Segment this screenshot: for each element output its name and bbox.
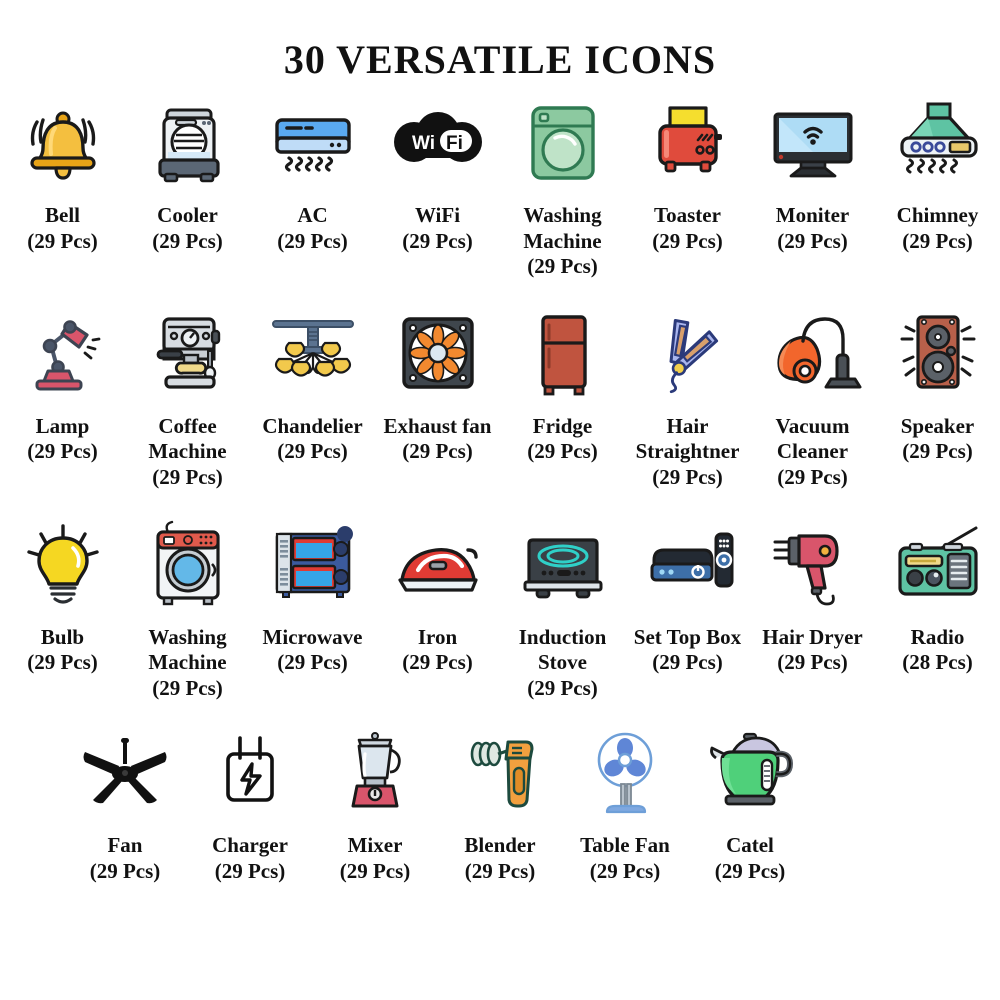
icon-label: Bulb (29 Pcs) xyxy=(1,625,125,676)
icon-count: (29 Pcs) xyxy=(1,650,125,676)
icon-label: Washing Machine (29 Pcs) xyxy=(126,625,250,702)
icon-count: (29 Pcs) xyxy=(126,465,250,491)
page-title: 30 VERSATILE ICONS xyxy=(0,0,1000,83)
icon-name: Mixer xyxy=(348,833,403,857)
icon-row-2: Lamp (29 Pcs) xyxy=(0,298,1000,491)
icon-cell-lamp[interactable]: Lamp (29 Pcs) xyxy=(0,298,125,491)
icon-name: Hair Dryer xyxy=(762,625,863,649)
icon-count: (29 Pcs) xyxy=(501,439,625,465)
hair-dryer-icon xyxy=(758,509,868,619)
ceiling-fan-icon xyxy=(70,717,180,827)
wifi-icon: Wi Fi xyxy=(383,87,493,197)
icon-count: (29 Pcs) xyxy=(126,676,250,702)
icon-label: AC (29 Pcs) xyxy=(251,203,375,254)
icon-count: (29 Pcs) xyxy=(251,229,375,255)
icon-cell-exhaust-fan[interactable]: Exhaust fan (29 Pcs) xyxy=(375,298,500,491)
icon-count: (29 Pcs) xyxy=(251,650,375,676)
exhaust-fan-icon xyxy=(383,298,493,408)
icon-label: Toaster (29 Pcs) xyxy=(626,203,750,254)
speaker-icon xyxy=(883,298,993,408)
icon-cell-hair-dryer[interactable]: Hair Dryer (29 Pcs) xyxy=(750,509,875,702)
icon-name: Bulb xyxy=(41,625,84,649)
iron-icon xyxy=(383,509,493,619)
icon-label: Fridge (29 Pcs) xyxy=(501,414,625,465)
icon-label: Chandelier (29 Pcs) xyxy=(251,414,375,465)
induction-stove-icon xyxy=(508,509,618,619)
icon-count: (29 Pcs) xyxy=(626,465,750,491)
icon-count: (29 Pcs) xyxy=(126,229,250,255)
bell-icon xyxy=(8,87,118,197)
icon-label: Table Fan (29 Pcs) xyxy=(563,833,687,884)
icon-count: (29 Pcs) xyxy=(438,859,562,885)
icon-name: Lamp xyxy=(36,414,90,438)
cooler-icon xyxy=(133,87,243,197)
icon-name: Catel xyxy=(726,833,774,857)
icon-cell-blender[interactable]: Blender (29 Pcs) xyxy=(438,717,563,884)
icon-name: Chandelier xyxy=(262,414,362,438)
charger-icon xyxy=(195,717,305,827)
icon-count: (29 Pcs) xyxy=(876,229,1000,255)
icon-label: Moniter (29 Pcs) xyxy=(751,203,875,254)
icon-label: Hair Dryer (29 Pcs) xyxy=(751,625,875,676)
icon-label: Exhaust fan (29 Pcs) xyxy=(376,414,500,465)
icon-name: Cooler xyxy=(157,203,218,227)
icon-cell-wifi[interactable]: Wi Fi WiFi (29 Pcs) xyxy=(375,87,500,280)
icon-count: (29 Pcs) xyxy=(251,439,375,465)
icon-cell-ac[interactable]: AC (29 Pcs) xyxy=(250,87,375,280)
icon-count: (28 Pcs) xyxy=(876,650,1000,676)
icon-count: (29 Pcs) xyxy=(1,439,125,465)
icon-name: Radio xyxy=(911,625,965,649)
icon-label: Radio (28 Pcs) xyxy=(876,625,1000,676)
icon-cell-radio[interactable]: Radio (28 Pcs) xyxy=(875,509,1000,702)
icon-count: (29 Pcs) xyxy=(563,859,687,885)
icon-name: Exhaust fan xyxy=(384,414,492,438)
icon-cell-chandelier[interactable]: Chandelier (29 Pcs) xyxy=(250,298,375,491)
monitor-icon xyxy=(758,87,868,197)
icon-count: (29 Pcs) xyxy=(1,229,125,255)
icon-name: Set Top Box xyxy=(634,625,741,649)
icon-cell-ceiling-fan[interactable]: Fan (29 Pcs) xyxy=(63,717,188,884)
icon-count: (29 Pcs) xyxy=(188,859,312,885)
icon-label: Chimney (29 Pcs) xyxy=(876,203,1000,254)
icon-name: Fridge xyxy=(533,414,592,438)
icon-count: (29 Pcs) xyxy=(313,859,437,885)
icon-cell-speaker[interactable]: Speaker (29 Pcs) xyxy=(875,298,1000,491)
icon-label: Coffee Machine (29 Pcs) xyxy=(126,414,250,491)
icon-cell-bell[interactable]: Bell (29 Pcs) xyxy=(0,87,125,280)
icon-label: Induction Stove (29 Pcs) xyxy=(501,625,625,702)
coffee-machine-icon xyxy=(133,298,243,408)
icon-row-1: Bell (29 Pcs) Coo xyxy=(0,87,1000,280)
icon-name: Chimney xyxy=(897,203,979,227)
icon-cell-kettle[interactable]: Catel (29 Pcs) xyxy=(688,717,813,884)
icon-count: (29 Pcs) xyxy=(751,465,875,491)
icon-cell-monitor[interactable]: Moniter (29 Pcs) xyxy=(750,87,875,280)
icon-count: (29 Pcs) xyxy=(626,650,750,676)
icon-count: (29 Pcs) xyxy=(376,650,500,676)
icon-label: Set Top Box (29 Pcs) xyxy=(626,625,750,676)
icon-cell-coffee-machine[interactable]: Coffee Machine (29 Pcs) xyxy=(125,298,250,491)
icon-count: (29 Pcs) xyxy=(501,254,625,280)
icon-cell-washing-machine[interactable]: Washing Machine (29 Pcs) xyxy=(500,87,625,280)
icon-count: (29 Pcs) xyxy=(376,229,500,255)
svg-text:Fi: Fi xyxy=(446,133,463,154)
washing-machine-front-icon xyxy=(133,509,243,619)
icon-count: (29 Pcs) xyxy=(876,439,1000,465)
icon-count: (29 Pcs) xyxy=(376,439,500,465)
icon-cell-table-fan[interactable]: Table Fan (29 Pcs) xyxy=(563,717,688,884)
set-top-box-icon xyxy=(633,509,743,619)
icon-label: WiFi (29 Pcs) xyxy=(376,203,500,254)
washing-machine-icon xyxy=(508,87,618,197)
ac-icon xyxy=(258,87,368,197)
icon-name: Speaker xyxy=(901,414,975,438)
icon-pack-sheet: 30 VERSATILE ICONS Bell (29 Pcs) xyxy=(0,0,1000,1000)
icon-name: Iron xyxy=(418,625,457,649)
mixer-icon xyxy=(320,717,430,827)
icon-cell-toaster[interactable]: Toaster (29 Pcs) xyxy=(625,87,750,280)
icon-name: Toaster xyxy=(654,203,721,227)
icon-cell-fridge[interactable]: Fridge (29 Pcs) xyxy=(500,298,625,491)
desk-lamp-icon xyxy=(8,298,118,408)
icon-name: WiFi xyxy=(415,203,460,227)
icon-cell-set-top-box[interactable]: Set Top Box (29 Pcs) xyxy=(625,509,750,702)
icon-label: Mixer (29 Pcs) xyxy=(313,833,437,884)
table-fan-icon xyxy=(570,717,680,827)
icon-label: Hair Straightner (29 Pcs) xyxy=(626,414,750,491)
icon-name: AC xyxy=(297,203,327,227)
icon-label: Microwave (29 Pcs) xyxy=(251,625,375,676)
icon-name: Fan xyxy=(107,833,142,857)
icon-count: (29 Pcs) xyxy=(751,229,875,255)
icon-count: (29 Pcs) xyxy=(688,859,812,885)
vacuum-cleaner-icon xyxy=(758,298,868,408)
icon-cell-chimney[interactable]: Chimney (29 Pcs) xyxy=(875,87,1000,280)
icon-name: Coffee Machine xyxy=(148,414,226,464)
icon-name: Induction Stove xyxy=(519,625,607,675)
icon-cell-washing-machine-front[interactable]: Washing Machine (29 Pcs) xyxy=(125,509,250,702)
icon-label: Cooler (29 Pcs) xyxy=(126,203,250,254)
icon-name: Washing Machine xyxy=(148,625,226,675)
icon-label: Speaker (29 Pcs) xyxy=(876,414,1000,465)
icon-count: (29 Pcs) xyxy=(63,859,187,885)
icon-label: Lamp (29 Pcs) xyxy=(1,414,125,465)
icon-cell-iron[interactable]: Iron (29 Pcs) xyxy=(375,509,500,702)
icon-cell-cooler[interactable]: Cooler (29 Pcs) xyxy=(125,87,250,280)
icon-label: Fan (29 Pcs) xyxy=(63,833,187,884)
fridge-icon xyxy=(508,298,618,408)
icon-cell-induction-stove[interactable]: Induction Stove (29 Pcs) xyxy=(500,509,625,702)
icon-name: Hair Straightner xyxy=(636,414,740,464)
icon-name: Charger xyxy=(212,833,288,857)
icon-cell-hair-straightener[interactable]: Hair Straightner (29 Pcs) xyxy=(625,298,750,491)
icon-count: (29 Pcs) xyxy=(501,676,625,702)
icon-count: (29 Pcs) xyxy=(751,650,875,676)
icon-cell-charger[interactable]: Charger (29 Pcs) xyxy=(188,717,313,884)
icon-name: Table Fan xyxy=(580,833,670,857)
icon-name: Blender xyxy=(464,833,535,857)
icon-label: Iron (29 Pcs) xyxy=(376,625,500,676)
icon-cell-vacuum-cleaner[interactable]: Vacuum Cleaner (29 Pcs) xyxy=(750,298,875,491)
icon-name: Washing Machine xyxy=(523,203,601,253)
icon-label: Catel (29 Pcs) xyxy=(688,833,812,884)
icon-count: (29 Pcs) xyxy=(626,229,750,255)
icon-label: Blender (29 Pcs) xyxy=(438,833,562,884)
icon-row-4: Fan (29 Pcs) Charger (29 Pcs) xyxy=(125,717,1000,884)
blender-icon xyxy=(445,717,555,827)
bulb-icon xyxy=(8,509,118,619)
toaster-icon xyxy=(633,87,743,197)
icon-name: Bell xyxy=(45,203,80,227)
icon-label: Bell (29 Pcs) xyxy=(1,203,125,254)
svg-text:Wi: Wi xyxy=(412,133,435,154)
icon-name: Vacuum Cleaner xyxy=(776,414,850,464)
icon-name: Microwave xyxy=(263,625,363,649)
icon-row-3: Bulb (29 Pcs) xyxy=(0,509,1000,702)
microwave-icon xyxy=(258,509,368,619)
radio-icon xyxy=(883,509,993,619)
icon-label: Washing Machine (29 Pcs) xyxy=(501,203,625,280)
icon-name: Moniter xyxy=(776,203,849,227)
icon-label: Vacuum Cleaner (29 Pcs) xyxy=(751,414,875,491)
icon-cell-microwave[interactable]: Microwave (29 Pcs) xyxy=(250,509,375,702)
icon-label: Charger (29 Pcs) xyxy=(188,833,312,884)
icon-cell-mixer[interactable]: Mixer (29 Pcs) xyxy=(313,717,438,884)
hair-straightener-icon xyxy=(633,298,743,408)
kettle-icon xyxy=(695,717,805,827)
chandelier-icon xyxy=(258,298,368,408)
icon-cell-bulb[interactable]: Bulb (29 Pcs) xyxy=(0,509,125,702)
chimney-icon xyxy=(883,87,993,197)
